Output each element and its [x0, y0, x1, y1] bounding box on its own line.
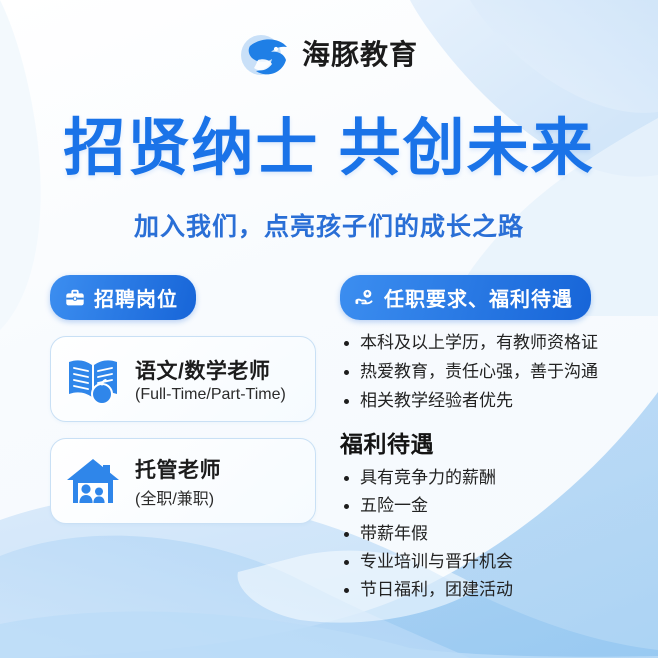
brand-name: 海豚教育 — [302, 41, 418, 69]
briefcase-icon — [64, 287, 86, 309]
positions-badge-label: 招聘岗位 — [94, 283, 178, 312]
house-family-icon — [65, 453, 121, 509]
job-card[interactable]: 托管老师 (全职/兼职) — [50, 438, 316, 524]
job-subtitle: (Full-Time/Part-Time) — [135, 386, 286, 404]
list-item: 热爱教育，责任心强，善于沟通 — [340, 363, 620, 380]
job-title: 托管老师 — [135, 454, 221, 484]
benefits-list: 具有竞争力的薪酬 五险一金 带薪年假 专业培训与晋升机会 节日福利，团建活动 — [340, 469, 620, 598]
benefits-heading: 福利待遇 — [340, 425, 620, 459]
page-subtitle: 加入我们，点亮孩子们的成长之路 — [0, 207, 658, 243]
job-subtitle: (全职/兼职) — [135, 485, 221, 509]
list-item: 本科及以上学历，有教师资格证 — [340, 334, 620, 351]
requirements-badge-label: 任职要求、福利待遇 — [384, 283, 573, 312]
hand-talent-icon — [354, 287, 376, 309]
list-item: 具有竞争力的薪酬 — [340, 469, 620, 486]
positions-column: 招聘岗位 — [50, 275, 322, 524]
requirements-column: 任职要求、福利待遇 本科及以上学历，有教师资格证 热爱教育，责任心强，善于沟通 … — [340, 275, 620, 609]
requirements-badge: 任职要求、福利待遇 — [340, 275, 591, 320]
list-item: 节日福利，团建活动 — [340, 581, 620, 598]
positions-badge: 招聘岗位 — [50, 275, 196, 320]
job-title: 语文/数学老师 — [135, 355, 286, 385]
list-item: 专业培训与晋升机会 — [340, 553, 620, 570]
recruitment-poster: 海豚教育 招贤纳士 共创未来 加入我们，点亮孩子们的成长之路 招聘岗位 — [0, 0, 658, 658]
book-apple-icon — [65, 351, 121, 407]
list-item: 带薪年假 — [340, 525, 620, 542]
list-item: 五险一金 — [340, 497, 620, 514]
page-title: 招贤纳士 共创未来 — [0, 116, 658, 181]
list-item: 相关教学经验者优先 — [340, 392, 620, 409]
dolphin-icon — [240, 30, 292, 80]
job-card[interactable]: 语文/数学老师 (Full-Time/Part-Time) — [50, 336, 316, 422]
requirements-list: 本科及以上学历，有教师资格证 热爱教育，责任心强，善于沟通 相关教学经验者优先 — [340, 334, 620, 409]
brand-logo: 海豚教育 — [0, 30, 658, 80]
